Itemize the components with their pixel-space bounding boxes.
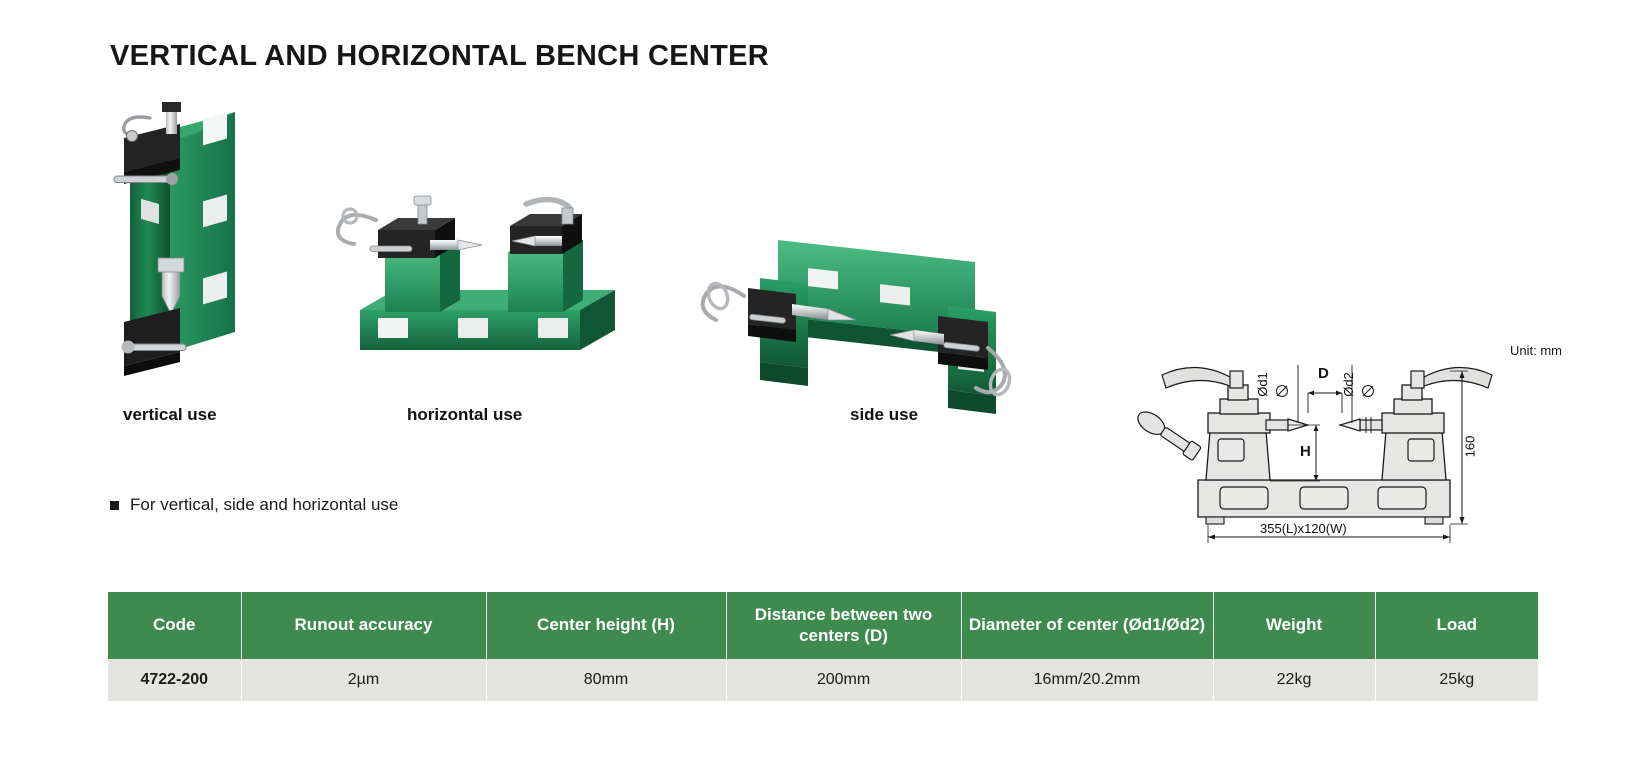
cell-runout-accuracy: 2µm bbox=[241, 659, 486, 701]
specification-table: Code Runout accuracy Center height (H) D… bbox=[108, 592, 1538, 701]
cell-code: 4722-200 bbox=[108, 659, 241, 701]
dim-label-d1: Ød1 bbox=[1255, 372, 1270, 397]
photo-caption-vertical: vertical use bbox=[123, 405, 217, 425]
column-header-distance-between-centers: Distance between two centers (D) bbox=[726, 592, 961, 659]
feature-text: For vertical, side and horizontal use bbox=[130, 495, 398, 515]
column-header-center-height: Center height (H) bbox=[486, 592, 726, 659]
product-photo-horizontal bbox=[330, 190, 640, 390]
square-bullet-icon bbox=[110, 501, 119, 510]
product-photo-vertical bbox=[110, 100, 290, 390]
cell-diameter-of-center: 16mm/20.2mm bbox=[961, 659, 1213, 701]
photo-caption-horizontal: horizontal use bbox=[407, 405, 522, 425]
cell-center-height: 80mm bbox=[486, 659, 726, 701]
dim-label-base-size: 355(L)x120(W) bbox=[1260, 521, 1347, 536]
column-header-diameter-of-center: Diameter of center (Ød1/Ød2) bbox=[961, 592, 1213, 659]
technical-drawing: Unit: mm bbox=[1120, 335, 1600, 560]
dim-label-D: D bbox=[1318, 365, 1329, 382]
table-row: 4722-200 2µm 80mm 200mm 16mm/20.2mm 22kg… bbox=[108, 659, 1538, 701]
page-title: VERTICAL AND HORIZONTAL BENCH CENTER bbox=[110, 40, 769, 73]
cell-weight: 22kg bbox=[1213, 659, 1375, 701]
dim-label-H: H bbox=[1300, 443, 1311, 460]
table-header-row: Code Runout accuracy Center height (H) D… bbox=[108, 592, 1538, 659]
column-header-load: Load bbox=[1375, 592, 1538, 659]
column-header-runout-accuracy: Runout accuracy bbox=[241, 592, 486, 659]
cell-distance-between-centers: 200mm bbox=[726, 659, 961, 701]
product-photo-gallery: vertical use bbox=[0, 95, 1100, 425]
feature-list-item: For vertical, side and horizontal use bbox=[110, 495, 398, 515]
unit-label: Unit: mm bbox=[1510, 343, 1562, 358]
column-header-code: Code bbox=[108, 592, 241, 659]
cell-load: 25kg bbox=[1375, 659, 1538, 701]
dim-label-d2: Ød2 bbox=[1341, 372, 1356, 397]
photo-caption-side: side use bbox=[850, 405, 918, 425]
column-header-weight: Weight bbox=[1213, 592, 1375, 659]
datasheet-page: VERTICAL AND HORIZONTAL BENCH CENTER bbox=[0, 0, 1646, 777]
dim-label-overall-height: 160 bbox=[1462, 436, 1477, 458]
drawing-svg bbox=[1120, 335, 1600, 560]
